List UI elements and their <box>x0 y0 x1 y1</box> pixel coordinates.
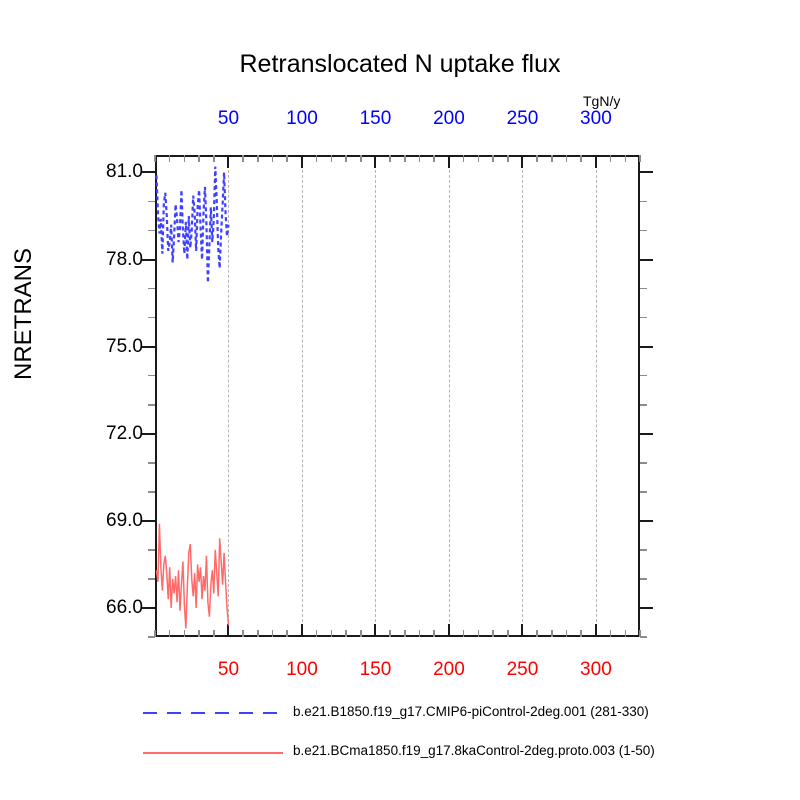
y-tick-label-66.0: 66.0 <box>106 597 143 619</box>
tick-right-66.0 <box>640 607 653 609</box>
tick-left-79.0 <box>148 230 155 232</box>
bottom-tick-label-100: 100 <box>286 659 318 681</box>
legend-label-1: b.e21.BCma1850.f19_g17.8kaControl-2deg.p… <box>293 743 655 758</box>
tick-right-77.0 <box>640 288 647 290</box>
top-tick-label-300: 300 <box>580 108 612 130</box>
tick-left-68.0 <box>148 549 155 551</box>
legend-entry-0: b.e21.B1850.f19_g17.CMIP6-piControl-2deg… <box>0 700 800 739</box>
tick-right-81.0 <box>640 171 653 173</box>
top-tick-label-250: 250 <box>507 108 539 130</box>
bottom-tick-label-300: 300 <box>580 659 612 681</box>
tick-left-71.0 <box>148 462 155 464</box>
tick-left-70.0 <box>148 491 155 493</box>
legend-sample-dashed <box>143 712 283 715</box>
tick-left-69.0 <box>142 520 155 522</box>
tick-right-72.0 <box>640 433 653 435</box>
tick-right-79.0 <box>640 230 647 232</box>
tick-left-72.0 <box>142 433 155 435</box>
y-tick-label-81.0: 81.0 <box>106 161 143 183</box>
tick-right-65.0 <box>640 636 647 638</box>
y-axis-title: NRETRANS <box>10 94 38 534</box>
tick-left-66.0 <box>142 607 155 609</box>
legend: b.e21.B1850.f19_g17.CMIP6-piControl-2deg… <box>0 700 800 778</box>
tick-left-81.0 <box>142 171 155 173</box>
series-lines <box>155 155 640 637</box>
tick-left-65.0 <box>148 636 155 638</box>
tick-left-80.0 <box>148 201 155 203</box>
bottom-tick-label-50: 50 <box>218 659 239 681</box>
tick-right-78.0 <box>640 259 653 261</box>
y-tick-label-69.0: 69.0 <box>106 510 143 532</box>
top-tick-label-200: 200 <box>433 108 465 130</box>
y-tick-label-78.0: 78.0 <box>106 249 143 271</box>
tick-right-67.0 <box>640 578 647 580</box>
tick-right-73.0 <box>640 404 647 406</box>
tick-left-75.0 <box>142 346 155 348</box>
tick-left-73.0 <box>148 404 155 406</box>
tick-right-74.0 <box>640 375 647 377</box>
legend-sample-solid <box>143 752 283 754</box>
top-tick-label-50: 50 <box>218 108 239 130</box>
legend-label-0: b.e21.B1850.f19_g17.CMIP6-piControl-2deg… <box>293 704 649 719</box>
tick-right-71.0 <box>640 462 647 464</box>
tick-right-70.0 <box>640 491 647 493</box>
tick-right-75.0 <box>640 346 653 348</box>
top-tick-label-150: 150 <box>360 108 392 130</box>
bottom-tick-label-200: 200 <box>433 659 465 681</box>
tick-left-76.0 <box>148 317 155 319</box>
tick-right-80.0 <box>640 201 647 203</box>
y-tick-label-75.0: 75.0 <box>106 336 143 358</box>
tick-left-78.0 <box>142 259 155 261</box>
series-line-0 <box>156 167 228 283</box>
tick-right-76.0 <box>640 317 647 319</box>
plot-area <box>155 155 640 637</box>
legend-entry-1: b.e21.BCma1850.f19_g17.8kaControl-2deg.p… <box>0 739 800 778</box>
chart-canvas: Retranslocated N uptake flux TgN/y 50100… <box>0 0 800 800</box>
tick-left-77.0 <box>148 288 155 290</box>
tick-left-67.0 <box>148 578 155 580</box>
units-label: TgN/y <box>583 93 620 109</box>
bottom-tick-label-250: 250 <box>507 659 539 681</box>
series-line-1 <box>156 524 228 629</box>
tick-right-68.0 <box>640 549 647 551</box>
tick-right-69.0 <box>640 520 653 522</box>
bottom-tick-label-150: 150 <box>360 659 392 681</box>
y-tick-label-72.0: 72.0 <box>106 423 143 445</box>
tick-left-74.0 <box>148 375 155 377</box>
top-tick-label-100: 100 <box>286 108 318 130</box>
